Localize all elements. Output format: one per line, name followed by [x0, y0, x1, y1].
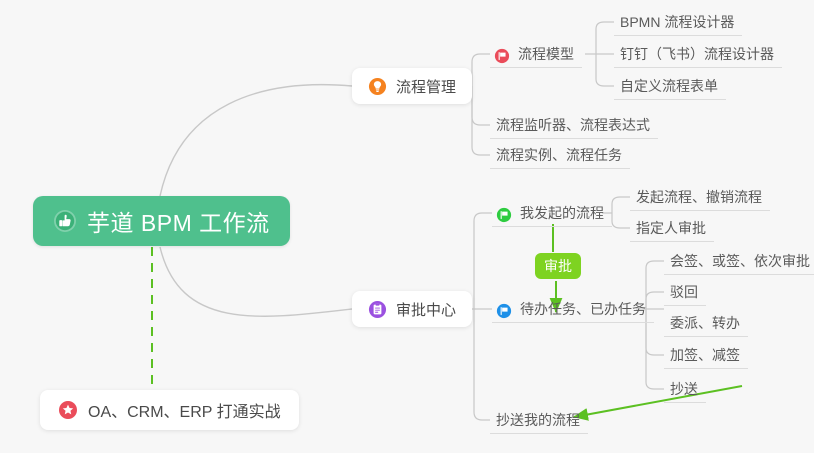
- node-label-reject: 驳回: [670, 282, 698, 302]
- edge-pm-to-instance: [472, 86, 490, 155]
- branch-label-approval-center: 审批中心: [396, 299, 456, 320]
- node-label-countersign: 会签、或签、依次审批: [670, 251, 810, 271]
- node-add-remove-sign[interactable]: 加签、减签: [664, 341, 748, 369]
- branch-label-process-management: 流程管理: [396, 76, 456, 97]
- edge-pm-to-process-model: [472, 54, 490, 86]
- node-label-delegate-transfer: 委派、转办: [670, 313, 740, 333]
- clipboard-icon: [368, 300, 387, 319]
- node-label-carbon-copy: 抄送: [670, 379, 698, 399]
- node-carbon-copy[interactable]: 抄送: [664, 375, 706, 403]
- approval-badge-label: 审批: [544, 256, 572, 276]
- root-node[interactable]: 芋道 BPM 工作流: [33, 196, 290, 246]
- node-label-add-remove-sign: 加签、减签: [670, 345, 740, 365]
- edge-pm-to-listener: [472, 86, 490, 125]
- node-label-my-started-process: 我发起的流程: [520, 203, 604, 223]
- node-cc-to-me-process[interactable]: 抄送我的流程: [490, 406, 588, 434]
- node-label-start-cancel-process: 发起流程、撤销流程: [636, 187, 762, 207]
- node-todo-done-tasks[interactable]: 待办任务、已办任务: [492, 295, 654, 323]
- edge-ac-to-mystarted: [474, 213, 492, 309]
- star-icon: [58, 400, 78, 420]
- node-my-started-process[interactable]: 我发起的流程: [492, 199, 612, 227]
- node-label-process-model: 流程模型: [518, 44, 574, 64]
- mindmap-canvas: 芋道 BPM 工作流 OA、CRM、ERP 打通实战 流程管理: [0, 0, 814, 453]
- node-dingtalk-designer[interactable]: 钉钉（飞书）流程设计器: [614, 40, 782, 68]
- node-process-instance[interactable]: 流程实例、流程任务: [490, 141, 630, 169]
- node-reject[interactable]: 驳回: [664, 278, 706, 306]
- lightbulb-icon: [368, 77, 387, 96]
- callout-node[interactable]: OA、CRM、ERP 打通实战: [40, 390, 299, 430]
- node-label-process-instance: 流程实例、流程任务: [496, 145, 622, 165]
- node-process-listener[interactable]: 流程监听器、流程表达式: [490, 111, 658, 139]
- node-label-dingtalk-designer: 钉钉（飞书）流程设计器: [620, 44, 774, 64]
- flag-green-icon: [496, 207, 512, 223]
- edge-root-to-approval-center: [160, 247, 352, 316]
- arrow-cc-to-ccmyprocess: [574, 386, 742, 417]
- flag-blue-icon: [496, 303, 512, 319]
- node-label-process-listener: 流程监听器、流程表达式: [496, 115, 650, 135]
- thumbs-up-icon: [53, 209, 77, 233]
- edge-ac-to-ccme: [474, 309, 490, 420]
- node-label-todo-done-tasks: 待办任务、已办任务: [520, 299, 646, 319]
- node-countersign[interactable]: 会签、或签、依次审批: [664, 247, 814, 275]
- node-process-model[interactable]: 流程模型: [490, 40, 582, 68]
- flag-red-icon: [494, 48, 510, 64]
- node-custom-form[interactable]: 自定义流程表单: [614, 72, 726, 100]
- node-assignee-approval[interactable]: 指定人审批: [630, 214, 714, 242]
- edge-root-to-process-management: [160, 85, 352, 196]
- node-label-cc-to-me-process: 抄送我的流程: [496, 410, 580, 430]
- branch-node-process-management[interactable]: 流程管理: [352, 68, 472, 104]
- edge-mystarted-to-start: [612, 197, 630, 213]
- node-label-custom-form: 自定义流程表单: [620, 76, 718, 96]
- node-delegate-transfer[interactable]: 委派、转办: [664, 309, 748, 337]
- node-bpmn-designer[interactable]: BPMN 流程设计器: [614, 8, 742, 36]
- node-label-bpmn-designer: BPMN 流程设计器: [620, 12, 734, 32]
- approval-badge: 审批: [535, 253, 581, 279]
- callout-node-label: OA、CRM、ERP 打通实战: [88, 398, 281, 422]
- root-node-label: 芋道 BPM 工作流: [87, 204, 270, 238]
- node-start-cancel-process[interactable]: 发起流程、撤销流程: [630, 183, 770, 211]
- edge-mystarted-to-assign: [612, 213, 630, 228]
- node-label-assignee-approval: 指定人审批: [636, 218, 706, 238]
- branch-node-approval-center[interactable]: 审批中心: [352, 291, 472, 327]
- edge-model-to-customform: [596, 54, 614, 86]
- edge-model-to-bpmn: [596, 22, 614, 54]
